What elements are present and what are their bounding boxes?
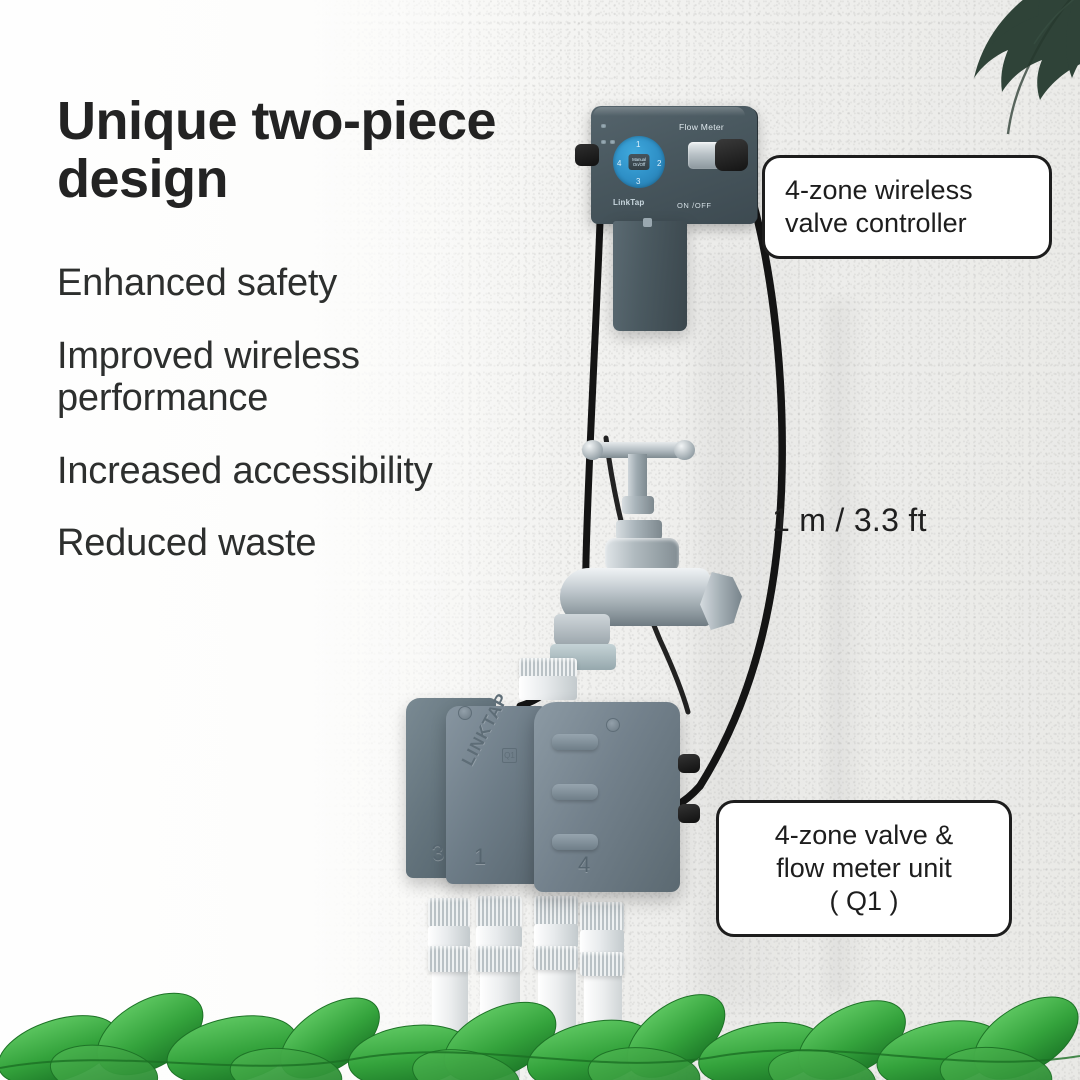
valve-grip-rib-3 [552,834,598,850]
controller-onoff-text: ON /OFF [677,201,712,210]
valve-cable-plug-lower [678,804,700,823]
valve-zone-label-4: 4 [578,852,590,878]
faucet-collar-lower [616,520,662,540]
faucet-outlet [554,614,610,648]
controller-brand-logo: LinkTap [613,198,644,207]
inlet-ring [519,658,577,678]
status-led-1 [601,124,606,128]
flow-meter-port-label: Flow Meter [679,122,724,132]
bottom-foliage-decoration [0,930,1080,1080]
callout-valve-line-1: 4-zone valve & [739,819,989,852]
wireless-valve-controller-device: 1 2 3 4 Manual On/Off Flow Meter LinkTap… [591,106,757,224]
callout-valve-line-3: ( Q1 ) [739,885,989,918]
manual-on-off-button[interactable]: Manual On/Off [629,154,650,170]
valve-module-middle [446,706,546,884]
faucet-handle-knob-left [582,440,603,460]
valve-screw-right [606,718,620,732]
zone-button-left-label[interactable]: 4 [617,160,621,168]
valve-screw-left [458,706,472,720]
controller-left-cable-plug [575,144,599,166]
callout-valve-line-2: flow meter unit [739,852,989,885]
valve-model-badge: Q1 [502,748,517,763]
valve-grip-rib-2 [552,784,598,800]
status-led-3 [610,140,615,144]
valve-flow-meter-unit-device: LINKTAP Q1 3 1 4 [406,692,706,907]
on-off-label: On/Off [629,162,650,167]
valve-cable-plug-upper [678,754,700,773]
cable-length-label: 1 m / 3.3 ft [772,502,927,539]
product-feature-image: 1 2 3 4 Manual On/Off Flow Meter LinkTap… [0,0,1080,1080]
faucet-handle-knob-right [674,440,695,460]
status-led-2 [601,140,606,144]
flow-meter-cable-plug [715,139,748,171]
controller-housing-clip [643,218,652,227]
zone-button-right-label[interactable]: 2 [657,160,661,168]
faucet-collar-upper [622,496,654,514]
controller-zone-button-pad[interactable]: 1 2 3 4 Manual On/Off [613,136,665,188]
valve-zone-label-1: 1 [474,844,486,870]
garden-faucet [560,432,790,682]
valve-grip-rib-1 [552,734,598,750]
controller-top-bevel [593,107,745,116]
zone-button-down-label[interactable]: 3 [636,178,640,186]
controller-battery-housing [613,221,687,331]
faucet-body-dome [605,538,679,572]
zone-button-up-label[interactable]: 1 [636,141,640,149]
callout-valve-flow-meter-unit: 4-zone valve & flow meter unit ( Q1 ) [716,800,1012,937]
callout-valve-controller: 4-zone wireless valve controller [762,155,1052,259]
